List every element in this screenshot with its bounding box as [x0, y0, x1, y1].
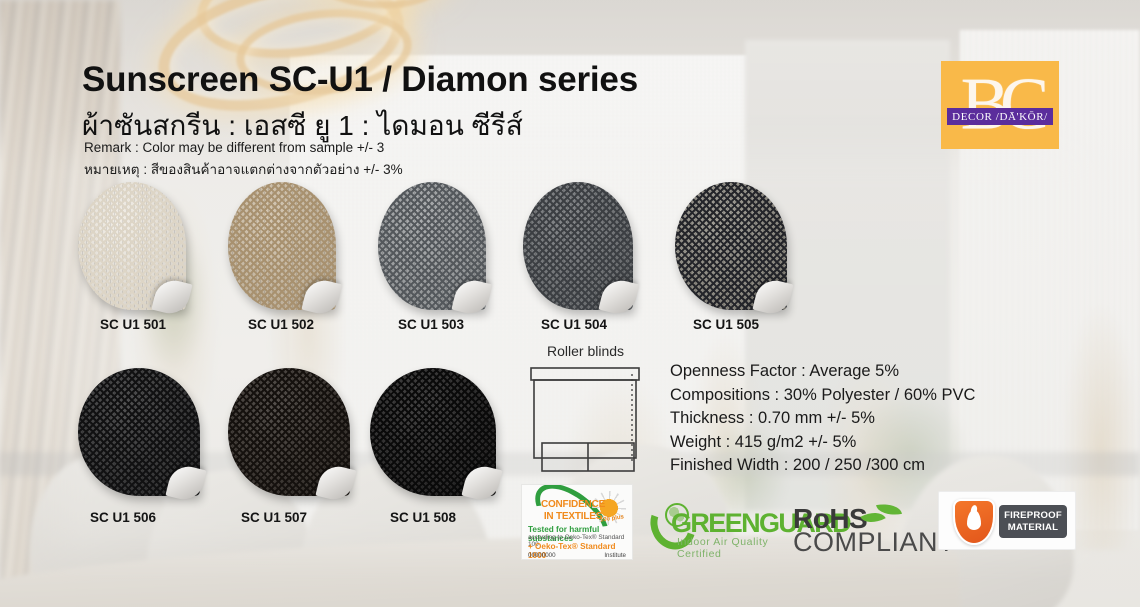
specification-list: Openness Factor : Average 5% Composition… [670, 360, 975, 478]
greenguard-badge: GREENGUARD Indoor Air Quality Certified [649, 498, 801, 554]
rohs-line2: COMPLIANT [793, 527, 955, 558]
remark-thai: หมายเหตุ : สีของสินค้าอาจแตกต่างจากตัวอย… [84, 158, 403, 180]
fireproof-line2: MATERIAL [1008, 522, 1058, 534]
spec-openness-factor: Openness Factor : Average 5% [670, 360, 975, 384]
flame-icon [967, 510, 981, 530]
fireproof-line1: FIREPROOF [1004, 510, 1062, 522]
fabric-swatch[interactable] [78, 368, 200, 496]
swatch-code-label: SC U1 501 [100, 317, 166, 332]
spec-finished-width: Finished Width : 200 / 250 /300 cm [670, 454, 975, 478]
rohs-badge: RoHS COMPLIANT [793, 505, 923, 557]
logo-monogram: BC [941, 69, 1059, 140]
fabric-swatch[interactable] [228, 182, 336, 310]
swatch-code-label: SC U1 502 [248, 317, 314, 332]
fabric-swatch[interactable] [78, 182, 186, 310]
swatch-code-label: SC U1 505 [693, 317, 759, 332]
oeko-number: 00000000 [528, 552, 556, 559]
greenguard-tagline: Indoor Air Quality Certified [677, 536, 801, 560]
fireproof-badge: FIREPROOF MATERIAL [938, 491, 1076, 550]
swatch-code-label: SC U1 504 [541, 317, 607, 332]
fabric-swatch[interactable] [523, 182, 633, 310]
swatch-code-label: SC U1 508 [390, 510, 456, 525]
spec-thickness: Thickness : 0.70 mm +/- 5% [670, 407, 975, 431]
logo-band-text: DECOR /DĀ'KŌR/ [947, 108, 1053, 125]
product-catalog-page: Sunscreen SC-U1 / Diamon series ผ้าซันสก… [0, 0, 1140, 607]
page-title: Sunscreen SC-U1 / Diamon series [82, 60, 638, 100]
swatch-code-label: SC U1 506 [90, 510, 156, 525]
fabric-swatch[interactable] [378, 182, 486, 310]
swatch-code-label: SC U1 503 [398, 317, 464, 332]
fabric-swatch[interactable] [675, 182, 787, 310]
swatch-code-label: SC U1 507 [241, 510, 307, 525]
roller-blinds-label: Roller blinds [547, 343, 624, 359]
shield-icon [953, 499, 995, 545]
spec-weight: Weight : 415 g/m2 +/- 5% [670, 431, 975, 455]
remark-english: Remark : Color may be different from sam… [84, 140, 384, 155]
roller-blind-diagram [528, 365, 646, 477]
oeko-headline-line2: IN TEXTILES [534, 511, 612, 523]
oeko-institute: Institute [604, 552, 626, 559]
spec-compositions: Compositions : 30% Polyester / 60% PVC [670, 384, 975, 408]
oeko-headline-line1: CONFIDENCE [534, 499, 612, 511]
brand-logo: BC DECOR /DĀ'KŌR/ [941, 61, 1059, 149]
fireproof-text-box: FIREPROOF MATERIAL [999, 505, 1067, 538]
fabric-swatch[interactable] [228, 368, 350, 496]
oeko-tex-badge: 100 plus CONFIDENCE IN TEXTILES Tested f… [521, 484, 633, 560]
fabric-swatch[interactable] [370, 368, 496, 496]
oeko-headline: CONFIDENCE IN TEXTILES [534, 499, 612, 522]
